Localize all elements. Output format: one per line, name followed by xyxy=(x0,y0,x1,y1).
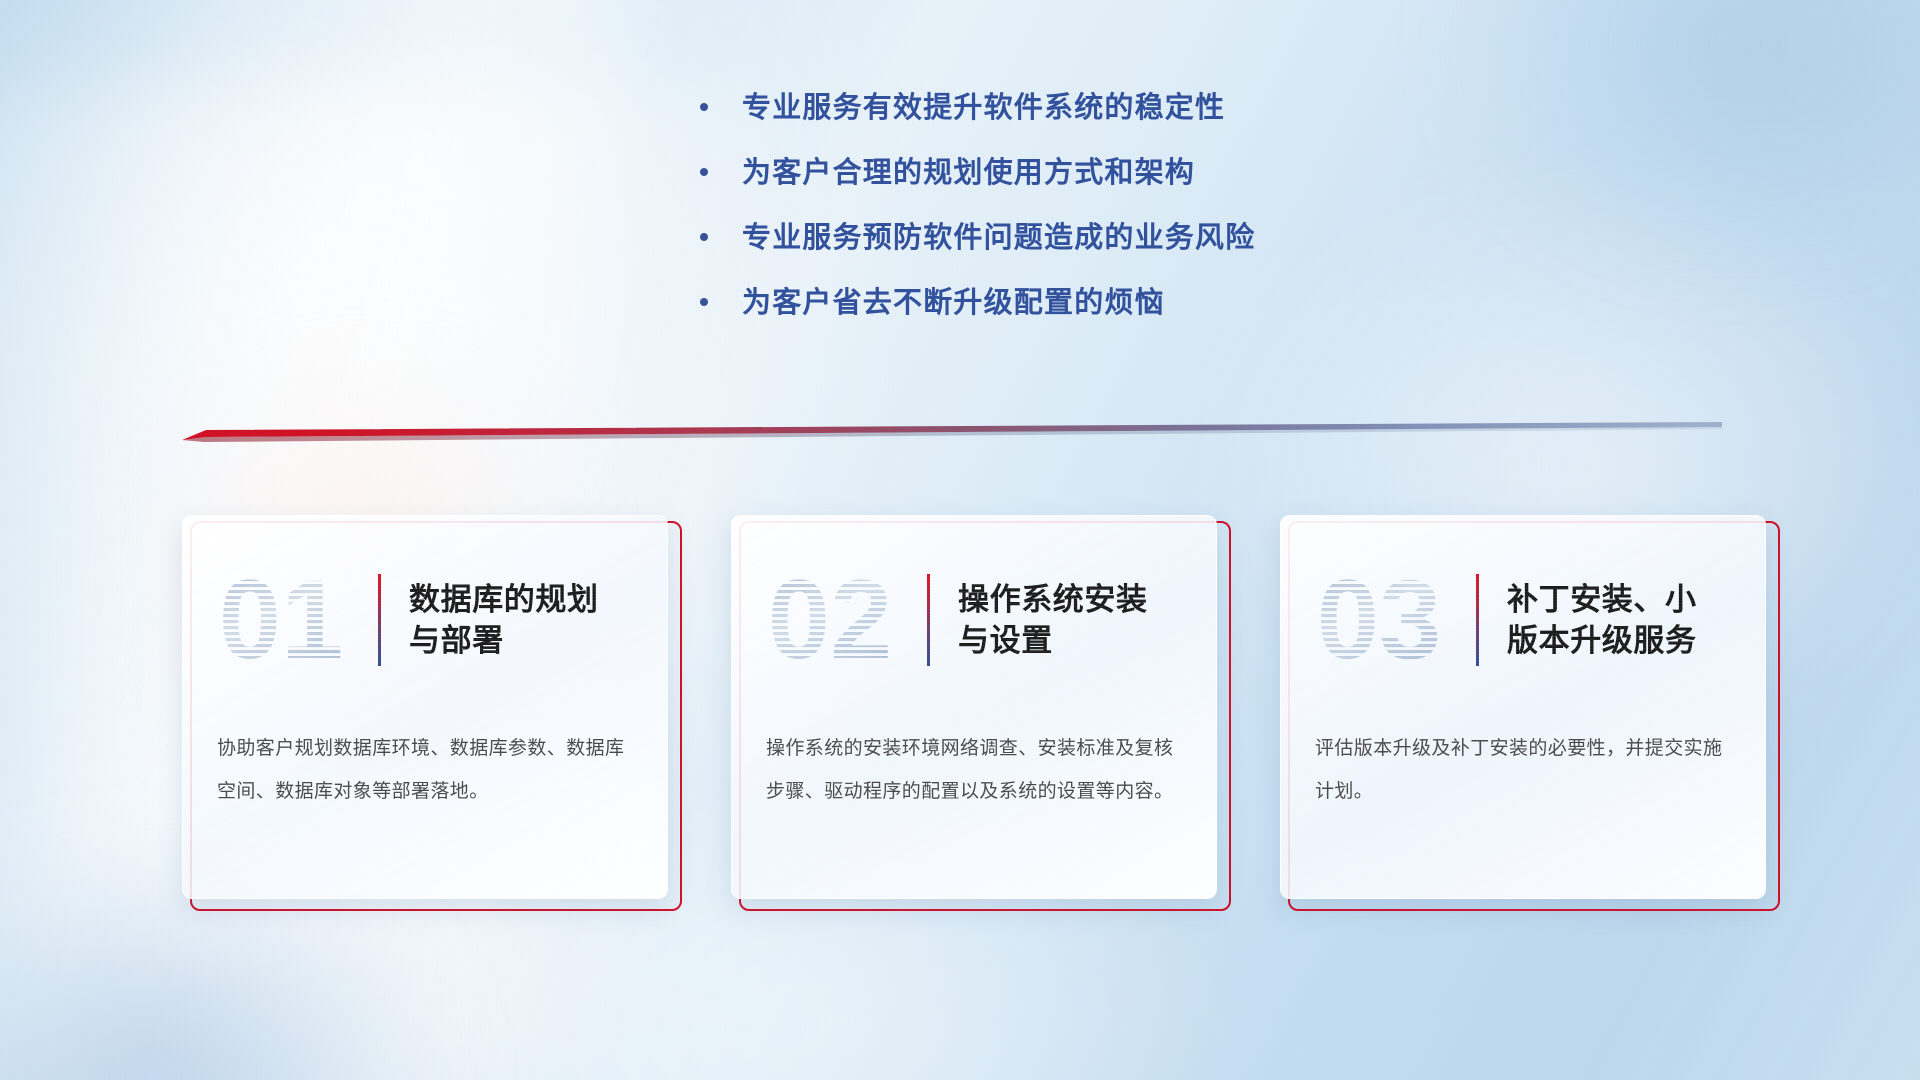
card-title: 操作系统安装 与设置 xyxy=(958,579,1148,661)
striped-number-icon: 01 xyxy=(186,560,376,680)
card-number-watermark: 02 xyxy=(732,560,927,680)
card-header: 02 操作系统安装 与设置 xyxy=(732,560,1216,680)
bullet-dot-icon xyxy=(700,168,708,176)
svg-text:03: 03 xyxy=(1316,560,1441,680)
card-description: 协助客户规划数据库环境、数据库参数、数据库空间、数据库对象等部署落地。 xyxy=(217,728,639,814)
card-title-line-2: 与设置 xyxy=(958,620,1148,661)
bullet-dot-icon xyxy=(700,233,708,241)
card-surface: 01 数据库的规划 与部署 协助客户规划数据库环境、数据库参数、数据库空间、数据… xyxy=(182,515,668,899)
list-item: 为客户省去不断升级配置的烦恼 xyxy=(580,289,1340,354)
card-surface: 03 补丁安装、小 版本升级服务 评估版本升级及补丁安装的必要性，并提交实施计划… xyxy=(1280,515,1766,899)
card-title-line-1: 操作系统安装 xyxy=(958,579,1148,620)
card-header: 01 数据库的规划 与部署 xyxy=(183,560,667,680)
card-title: 补丁安装、小 版本升级服务 xyxy=(1507,579,1697,661)
bullet-text: 专业服务有效提升软件系统的稳定性 xyxy=(742,94,1225,123)
card-title-line-2: 与部署 xyxy=(409,620,599,661)
svg-text:02: 02 xyxy=(767,560,892,680)
card-number-watermark: 03 xyxy=(1281,560,1476,680)
service-card[interactable]: 02 操作系统安装 与设置 操作系统的安装环境网络调查、安装标准及复核步骤、驱动… xyxy=(731,515,1223,905)
service-card[interactable]: 03 补丁安装、小 版本升级服务 评估版本升级及补丁安装的必要性，并提交实施计划… xyxy=(1280,515,1772,905)
card-number-watermark: 01 xyxy=(183,560,378,680)
card-title-line-2: 版本升级服务 xyxy=(1507,620,1697,661)
card-accent-rule xyxy=(1476,574,1479,666)
list-item: 专业服务预防软件问题造成的业务风险 xyxy=(580,224,1340,289)
bullet-text: 为客户合理的规划使用方式和架构 xyxy=(742,159,1195,188)
card-header: 03 补丁安装、小 版本升级服务 xyxy=(1281,560,1765,680)
benefits-bullet-list: 专业服务有效提升软件系统的稳定性 为客户合理的规划使用方式和架构 专业服务预防软… xyxy=(0,94,1920,354)
card-accent-rule xyxy=(378,574,381,666)
card-surface: 02 操作系统安装 与设置 操作系统的安装环境网络调查、安装标准及复核步骤、驱动… xyxy=(731,515,1217,899)
card-title: 数据库的规划 与部署 xyxy=(409,579,599,661)
card-title-line-1: 补丁安装、小 xyxy=(1507,579,1697,620)
list-item: 专业服务有效提升软件系统的稳定性 xyxy=(580,94,1340,159)
service-card[interactable]: 01 数据库的规划 与部署 协助客户规划数据库环境、数据库参数、数据库空间、数据… xyxy=(182,515,674,905)
card-description: 操作系统的安装环境网络调查、安装标准及复核步骤、驱动程序的配置以及系统的设置等内… xyxy=(766,728,1188,814)
list-item: 为客户合理的规划使用方式和架构 xyxy=(580,159,1340,224)
bullet-dot-icon xyxy=(700,298,708,306)
striped-number-icon: 03 xyxy=(1284,560,1474,680)
card-accent-rule xyxy=(927,574,930,666)
striped-number-icon: 02 xyxy=(735,560,925,680)
bullet-dot-icon xyxy=(700,103,708,111)
service-card-list: 01 数据库的规划 与部署 协助客户规划数据库环境、数据库参数、数据库空间、数据… xyxy=(182,515,1772,905)
bullet-text: 专业服务预防软件问题造成的业务风险 xyxy=(742,224,1255,253)
card-title-line-1: 数据库的规划 xyxy=(409,579,599,620)
bullet-text: 为客户省去不断升级配置的烦恼 xyxy=(742,289,1165,318)
card-description: 评估版本升级及补丁安装的必要性，并提交实施计划。 xyxy=(1315,728,1737,814)
svg-text:01: 01 xyxy=(218,560,343,680)
